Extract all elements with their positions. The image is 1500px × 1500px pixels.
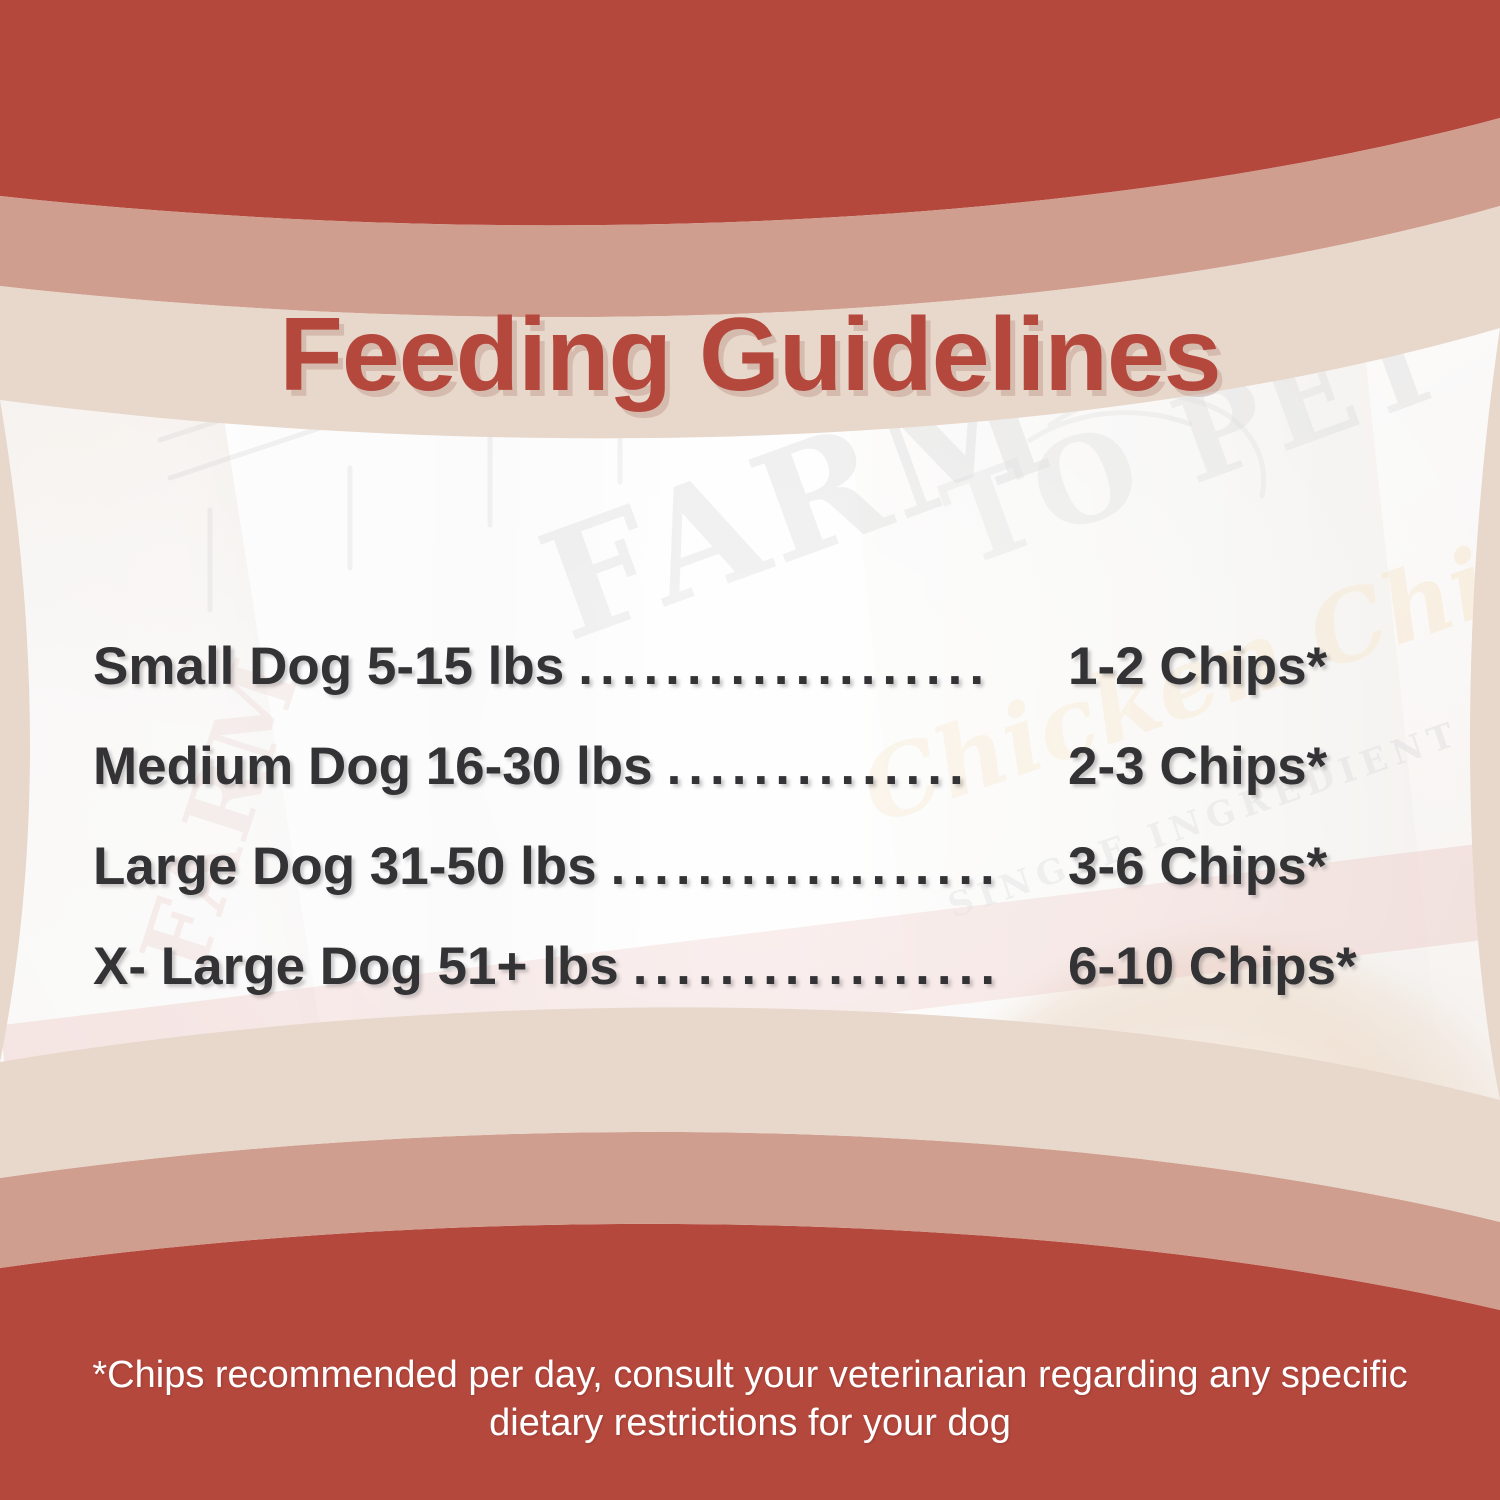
row-leader: .............. (667, 740, 1064, 793)
row-leader: ................... (578, 640, 1064, 693)
table-row: Small Dog 5-15 lbs ................... 1… (93, 636, 1420, 736)
page-title: Feeding Guidelines (0, 296, 1500, 415)
row-value-medium: 2-3 Chips* (1068, 736, 1420, 797)
row-label-large: Large Dog 31-50 lbs (93, 836, 597, 897)
row-leader: ................. (633, 940, 1064, 993)
row-label-medium: Medium Dog 16-30 lbs (93, 736, 653, 797)
row-leader: .................. (611, 840, 1064, 893)
feeding-table: Small Dog 5-15 lbs ................... 1… (93, 636, 1420, 1036)
footnote-text: *Chips recommended per day, consult your… (0, 1351, 1500, 1448)
table-row: X- Large Dog 51+ lbs ................. 6… (93, 936, 1420, 1036)
row-value-small: 1-2 Chips* (1068, 636, 1420, 697)
content-area: Feeding Guidelines Small Dog 5-15 lbs ..… (0, 0, 1500, 1500)
row-value-xlarge: 6-10 Chips* (1068, 936, 1420, 997)
table-row: Large Dog 31-50 lbs .................. 3… (93, 836, 1420, 936)
row-value-large: 3-6 Chips* (1068, 836, 1420, 897)
row-label-small: Small Dog 5-15 lbs (93, 636, 564, 697)
row-label-xlarge: X- Large Dog 51+ lbs (93, 936, 619, 997)
table-row: Medium Dog 16-30 lbs .............. 2-3 … (93, 736, 1420, 836)
feeding-guidelines-graphic: NEW Value Bag FAR (0, 0, 1500, 1500)
